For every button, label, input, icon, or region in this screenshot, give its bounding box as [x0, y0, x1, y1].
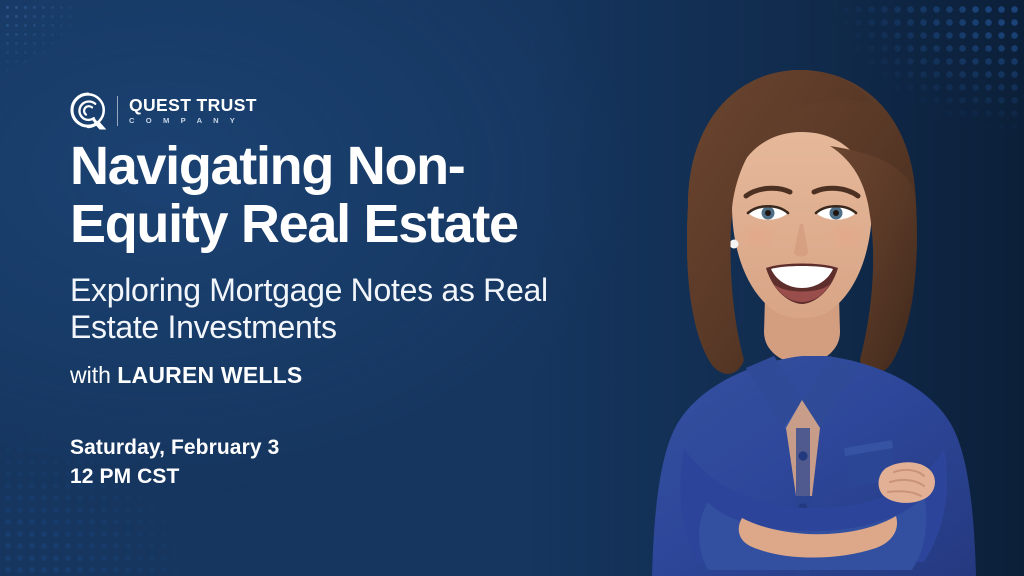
- logo-divider: [117, 96, 118, 126]
- webinar-promo-banner: QUEST TRUST C O M P A N Y Navigating Non…: [0, 0, 1024, 576]
- schedule-block: Saturday, February 3 12 PM CST: [70, 434, 279, 492]
- event-time: 12 PM CST: [70, 463, 279, 492]
- brand-subname: C O M P A N Y: [129, 117, 257, 125]
- subtitle: Exploring Mortgage Notes as Real Estate …: [70, 272, 590, 346]
- speaker-portrait-image: [624, 56, 1024, 576]
- quest-q-swirl-icon: [70, 92, 106, 130]
- brand-wordmark: QUEST TRUST C O M P A N Y: [129, 97, 257, 124]
- speaker-name: LAUREN WELLS: [117, 362, 302, 388]
- speaker-line: with LAUREN WELLS: [70, 363, 302, 388]
- headline: Navigating Non-Equity Real Estate: [70, 138, 590, 254]
- content-column: QUEST TRUST C O M P A N Y Navigating Non…: [70, 0, 630, 576]
- speaker-prefix: with: [70, 362, 111, 388]
- event-date: Saturday, February 3: [70, 434, 279, 463]
- brand-name: QUEST TRUST: [129, 97, 257, 115]
- brand-logo-lockup[interactable]: QUEST TRUST C O M P A N Y: [70, 92, 257, 130]
